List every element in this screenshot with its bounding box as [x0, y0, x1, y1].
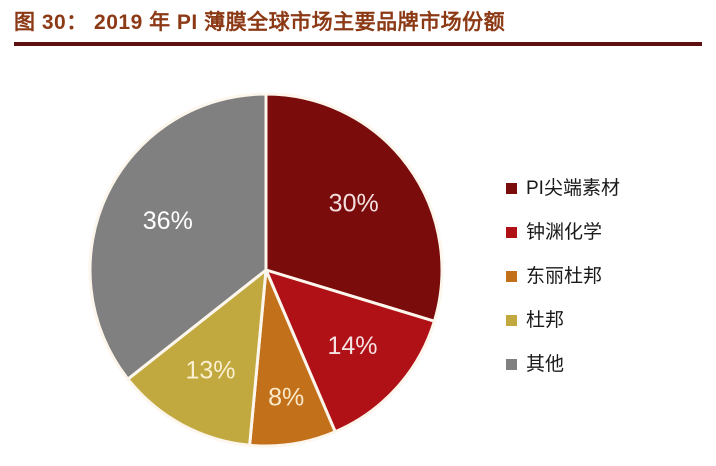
chart-plot-area: 30%14%8%13%36% PI尖端素材钟渊化学东丽杜邦杜邦其他 — [0, 48, 716, 466]
chart-header: 图 30： 2019 年 PI 薄膜全球市场主要品牌市场份额 — [0, 0, 716, 48]
pie-slice-group — [90, 94, 442, 446]
legend-swatch-icon — [506, 227, 517, 238]
legend-item[interactable]: 杜邦 — [506, 298, 702, 342]
legend-item-label: 东丽杜邦 — [526, 267, 602, 286]
legend-swatch-icon — [506, 359, 517, 370]
legend-swatch-icon — [506, 183, 517, 194]
legend-item[interactable]: 东丽杜邦 — [506, 254, 702, 298]
legend-item[interactable]: 钟渊化学 — [506, 210, 702, 254]
chart-legend: PI尖端素材钟渊化学东丽杜邦杜邦其他 — [506, 166, 702, 386]
page-title: 图 30： 2019 年 PI 薄膜全球市场主要品牌市场份额 — [14, 6, 505, 36]
pie-chart: 30%14%8%13%36% — [88, 92, 444, 448]
pie-slice-label: 8% — [268, 383, 304, 411]
title-divider — [14, 42, 702, 46]
legend-swatch-icon — [506, 271, 517, 282]
legend-item-label: 杜邦 — [526, 311, 564, 330]
legend-item[interactable]: PI尖端素材 — [506, 166, 702, 210]
pie-chart-svg: 30%14%8%13%36% — [88, 92, 444, 448]
pie-slice-label: 30% — [329, 190, 379, 218]
pie-slice-label: 14% — [327, 332, 377, 360]
legend-item[interactable]: 其他 — [506, 342, 702, 386]
legend-swatch-icon — [506, 315, 517, 326]
legend-item-label: 钟渊化学 — [526, 223, 602, 242]
legend-item-label: PI尖端素材 — [526, 179, 620, 198]
legend-item-label: 其他 — [526, 355, 564, 374]
pie-slice-label: 13% — [185, 357, 235, 385]
pie-slice-label: 36% — [143, 207, 193, 235]
